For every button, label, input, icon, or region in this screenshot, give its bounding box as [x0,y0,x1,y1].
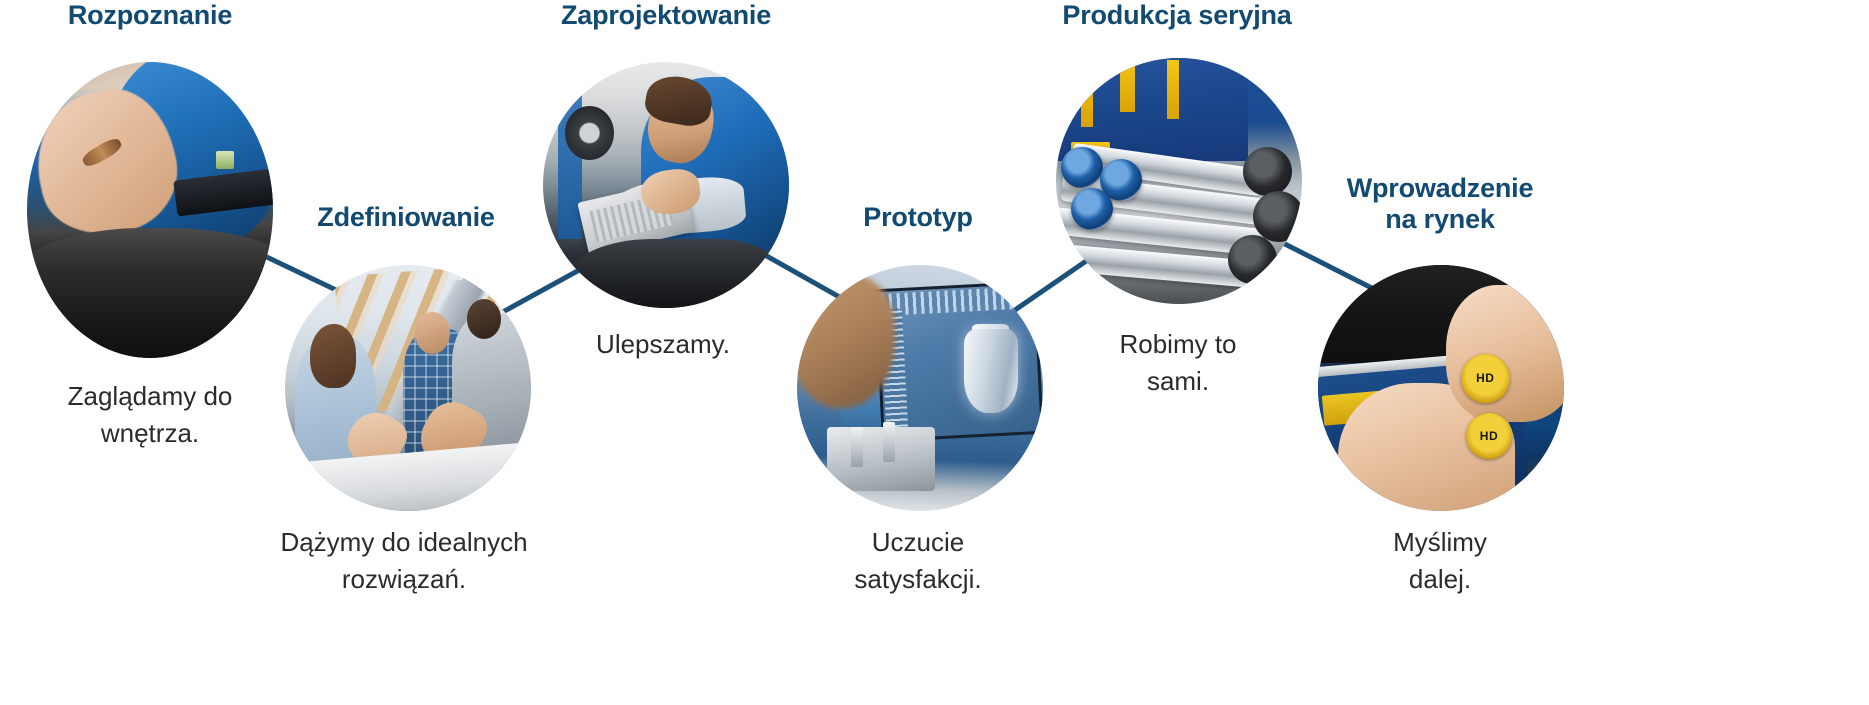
prototyp-photo-content [797,265,1043,511]
upper-hand-shape [1446,285,1564,423]
step-image-zdefiniowanie [285,265,531,511]
engine-bay-shape [568,239,780,308]
step-caption-wprowadzenie-na-rynek: Myślimy dalej. [1280,524,1600,598]
step-caption-zdefiniowanie: Dążymy do idealnych rozwiązań. [194,524,614,598]
man-grey-head-shape [467,299,501,338]
blue-gasket-1-shape [1061,147,1103,189]
step-title-rozpoznanie: Rozpoznanie [0,0,320,31]
zaprojektowanie-photo-content [543,62,789,308]
fixture-pin-2-shape [883,422,895,461]
step-title-zaprojektowanie: Zaprojektowanie [456,0,876,31]
step-caption-zaprojektowanie: Ulepszamy. [503,326,823,363]
cad-part-shape [964,329,1018,413]
id-badge-shape [216,151,233,169]
yellow-mark-1-shape [1081,63,1093,127]
hd-sticker-1-label: HD [1476,371,1494,385]
infographic-process-diagram: Rozpoznanie Zaglądamy do wnętrza. Zdefin… [0,0,1869,705]
car-hood-shape [27,228,273,358]
step-image-prototyp [797,265,1043,511]
hd-sticker-2-label: HD [1480,429,1498,443]
yellow-mark-2-shape [1120,58,1135,112]
black-cap-3-shape [1228,235,1277,284]
step-title-produkcja-seryjna: Produkcja seryjna [957,0,1397,31]
yellow-mark-3-shape [1167,60,1179,119]
measuring-fixture-shape [827,427,935,491]
zdefiniowanie-photo-content [285,265,531,511]
step-image-wprowadzenie-na-rynek: HD HD [1318,265,1564,511]
step-caption-produkcja-seryjna: Robimy to sami. [1018,326,1338,400]
step-title-zdefiniowanie: Zdefiniowanie [236,202,576,233]
step-title-wprowadzenie-na-rynek: Wprowadzenie na rynek [1230,173,1650,236]
step-caption-prototyp: Uczucie satysfakcji. [748,524,1088,598]
lift-post-shape [558,77,583,239]
step-caption-rozpoznanie: Zaglądamy do wnętrza. [0,378,310,452]
step-title-prototyp: Prototyp [768,202,1068,233]
blue-gasket-3-shape [1071,188,1113,230]
fixture-pin-1-shape [851,427,863,466]
step-image-zaprojektowanie [543,62,789,308]
wprowadzenie-photo-content: HD HD [1318,265,1564,511]
man-plaid-head-shape [415,312,449,354]
woman-hair-shape [310,324,357,388]
tyre-shape [565,106,614,160]
